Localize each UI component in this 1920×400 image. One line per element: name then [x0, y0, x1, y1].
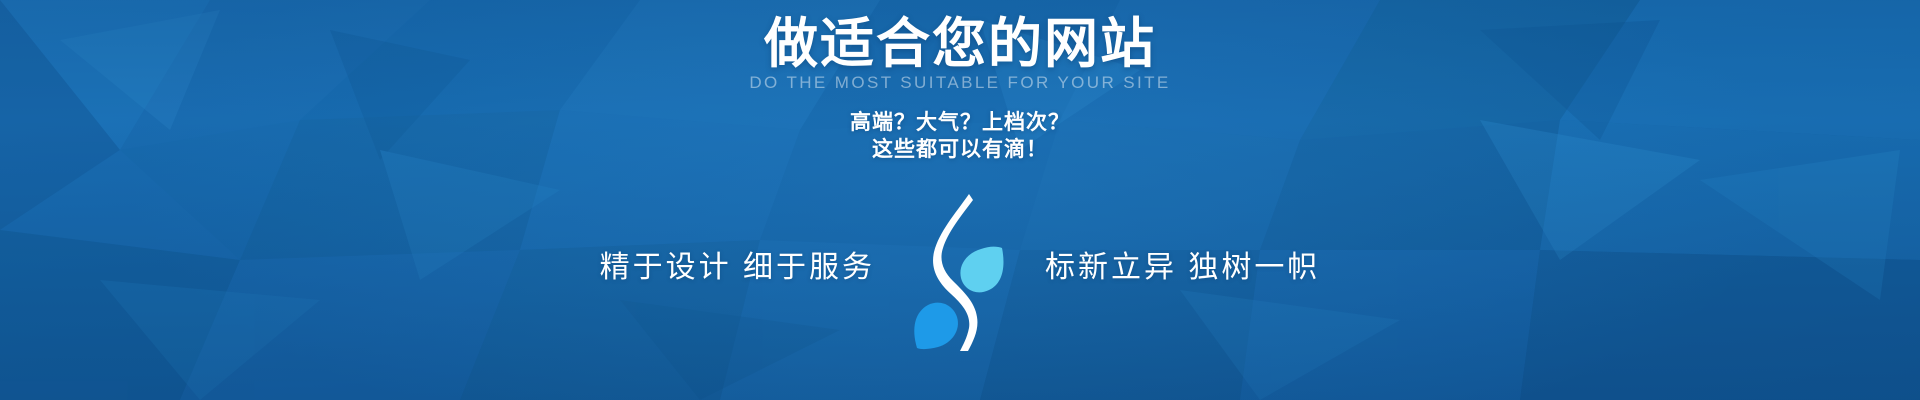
banner-content: 做适合您的网站 DO THE MOST SUITABLE FOR YOUR SI…: [0, 0, 1920, 400]
promo-banner: 做适合您的网站 DO THE MOST SUITABLE FOR YOUR SI…: [0, 0, 1920, 400]
leaf-sprout-logo: [905, 188, 1015, 353]
page-subtitle-english: DO THE MOST SUITABLE FOR YOUR SITE: [749, 73, 1170, 93]
page-title: 做适合您的网站: [764, 13, 1156, 75]
slogan-left: 精于设计 细于服务: [575, 248, 905, 288]
tagline: 高端？大气？上档次？ 这些都可以有滴！: [850, 109, 1070, 163]
slogan-right: 标新立异 独树一帜: [1015, 248, 1345, 288]
tagline-line-1: 高端？大气？上档次？: [850, 109, 1070, 136]
tagline-line-2: 这些都可以有滴！: [850, 136, 1070, 163]
slogan-row: 精于设计 细于服务 标新立异 独树一帜: [0, 182, 1920, 353]
